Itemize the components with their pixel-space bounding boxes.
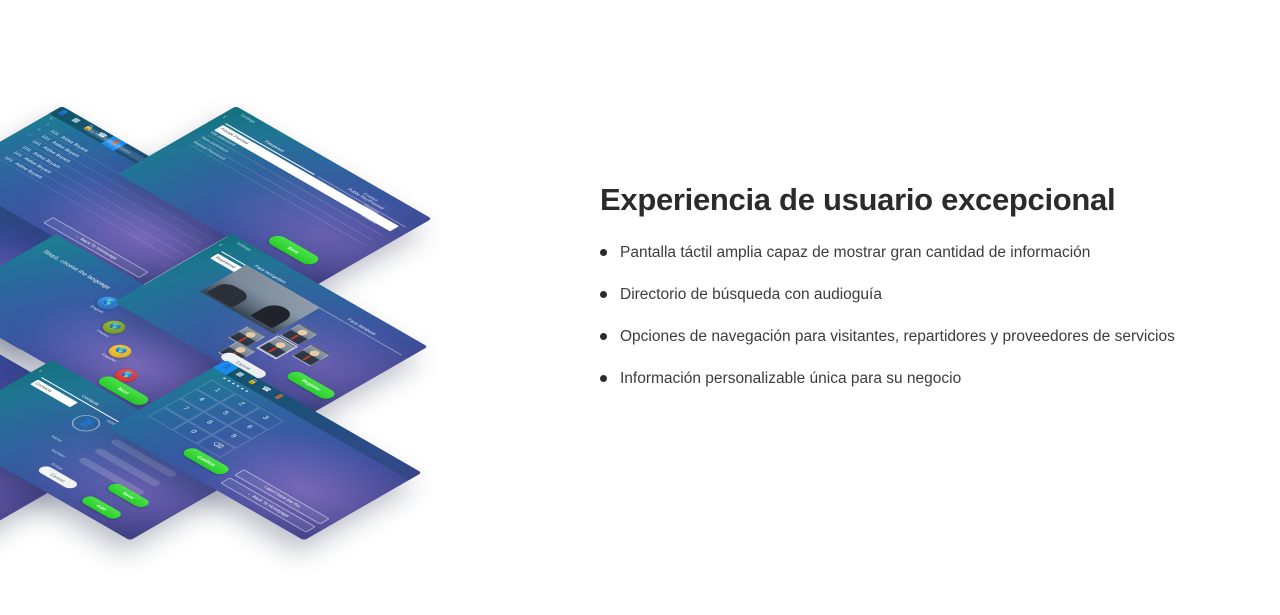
alpha-letter[interactable]: B [35,128,41,131]
list-item-label: Información personalizable única para su… [620,369,961,390]
field-private-passwd[interactable]: Private Passwd [214,125,399,231]
isometric-stage: Aidee Bryant 00:13 🔊 ☎ 👤 ▦ 🔒 [0,0,560,615]
list-item-label: Opciones de navegación para visitantes, … [620,327,1175,348]
marketing-copy: Experiencia de usuario excepcional Panta… [600,183,1268,411]
page-root: Aidee Bryant 00:13 🔊 ☎ 👤 ▦ 🔒 [0,0,1280,615]
feature-list: Pantalla táctil amplia capaz de mostrar … [600,243,1268,390]
alpha-letter[interactable]: A [44,123,50,126]
camera-preview [200,265,320,334]
field-label: Number [50,449,67,459]
chevron-left-icon[interactable]: ‹ [215,243,225,249]
register-button[interactable]: Register [284,370,338,401]
bullet-dot-icon [600,375,607,382]
password-fields: Private Passwd Old password New password… [189,125,399,246]
field-old-password[interactable]: Old password [206,130,391,236]
add-contact-icon[interactable]: 👤 [66,412,106,435]
alpha-letter[interactable]: C [26,134,32,137]
field-label: Name [50,435,64,443]
bullet-dot-icon [600,333,607,340]
chevron-left-icon[interactable]: ‹ [219,115,229,121]
list-item: Información personalizable única para su… [600,369,1268,390]
bullet-dot-icon [600,249,607,256]
list-item: Opciones de navegación para visitantes, … [600,327,1268,348]
language-option-france[interactable]: 🌎 France [93,318,130,339]
page-title: Experiencia de usuario excepcional [600,183,1268,217]
device-mockup-collage: Aidee Bryant 00:13 🔊 ☎ 👤 ▦ 🔒 [0,0,560,615]
face-thumbnail[interactable] [292,344,330,366]
bullet-dot-icon [600,291,607,298]
entry-extension: 101 [2,156,15,163]
list-item-label: Pantalla táctil amplia capaz de mostrar … [620,243,1090,264]
search-icon: 🔍 [47,117,56,122]
list-item: Directorio de búsqueda con audioguía [600,285,1268,306]
add-button[interactable]: Add [79,495,124,521]
list-item: Pantalla táctil amplia capaz de mostrar … [600,243,1268,264]
chevron-left-icon[interactable]: ‹ [35,369,45,375]
tab-face-database[interactable]: Face database [313,299,411,355]
language-option-espanol[interactable]: 🌎 Español [99,342,136,363]
list-item-label: Directorio de búsqueda con audioguía [620,285,882,306]
